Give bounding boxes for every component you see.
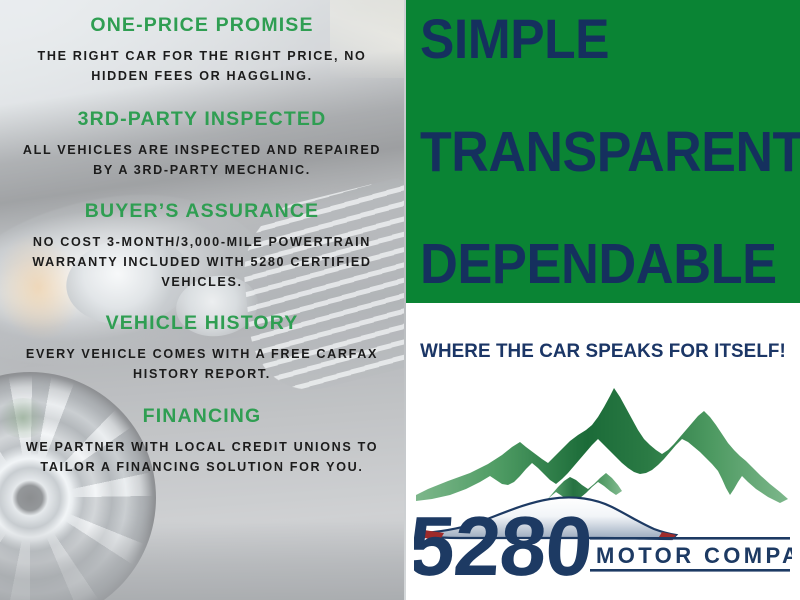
headline-line-dependable: DEPENDABLE (420, 237, 762, 293)
benefit-body: ALL VEHICLES ARE INSPECTED AND REPAIRED … (14, 140, 390, 181)
promotional-poster: ONE-PRICE PROMISE THE RIGHT CAR FOR THE … (0, 0, 800, 600)
benefit-title: FINANCING (14, 405, 390, 428)
benefit-title: BUYER’S ASSURANCE (14, 200, 390, 223)
benefit-financing: FINANCING WE PARTNER WITH LOCAL CREDIT U… (14, 405, 390, 478)
brand-panel: WHERE THE CAR SPEAKS FOR ITSELF! (406, 303, 800, 600)
benefit-body: WE PARTNER WITH LOCAL CREDIT UNIONS TO T… (14, 437, 390, 478)
logo-subtitle: MOTOR COMPANY (596, 543, 792, 568)
mountain-icon (416, 388, 788, 511)
benefit-buyers-assurance: BUYER’S ASSURANCE NO COST 3-MONTH/3,000-… (14, 200, 390, 293)
benefit-vehicle-history: VEHICLE HISTORY EVERY VEHICLE COMES WITH… (14, 312, 390, 385)
headline-panel: SIMPLE TRANSPARENT DEPENDABLE (406, 0, 800, 303)
benefits-list: ONE-PRICE PROMISE THE RIGHT CAR FOR THE … (0, 0, 404, 600)
company-logo: 5280 MOTOR COMPANY (414, 381, 792, 577)
benefit-body: EVERY VEHICLE COMES WITH A FREE CARFAX H… (14, 344, 390, 385)
benefit-body: NO COST 3-MONTH/3,000-MILE POWERTRAIN WA… (14, 232, 390, 293)
headline-line-transparent: TRANSPARENT (420, 124, 762, 179)
benefit-title: ONE-PRICE PROMISE (14, 14, 390, 37)
headline-line-simple: SIMPLE (420, 12, 762, 67)
logo-subtitle-block: MOTOR COMPANY (590, 537, 792, 572)
benefit-title: 3RD-PARTY INSPECTED (14, 108, 390, 131)
headline-stack: SIMPLE TRANSPARENT DEPENDABLE (406, 0, 800, 303)
svg-text:5280: 5280 (414, 499, 595, 577)
benefit-body: THE RIGHT CAR FOR THE RIGHT PRICE, NO HI… (14, 46, 390, 87)
benefit-third-party-inspected: 3RD-PARTY INSPECTED ALL VEHICLES ARE INS… (14, 108, 390, 181)
benefit-one-price-promise: ONE-PRICE PROMISE THE RIGHT CAR FOR THE … (14, 14, 390, 87)
benefits-panel: ONE-PRICE PROMISE THE RIGHT CAR FOR THE … (0, 0, 404, 600)
benefit-title: VEHICLE HISTORY (14, 312, 390, 335)
logo-svg: 5280 MOTOR COMPANY (414, 381, 792, 577)
tagline: WHERE THE CAR SPEAKS FOR ITSELF! (412, 340, 794, 363)
logo-number: 5280 (414, 499, 595, 577)
